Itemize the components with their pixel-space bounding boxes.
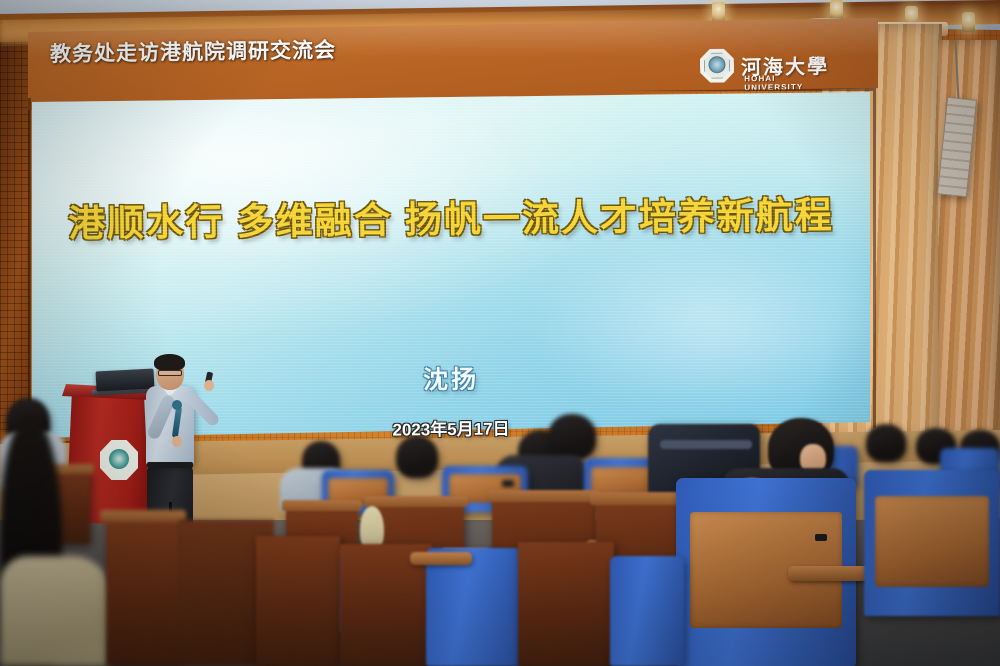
audience-desk [518,542,614,666]
ceiling-spotlight-icon [830,0,843,20]
audience-desk-foreground [106,518,182,666]
backpack-strap [660,440,752,449]
audience-desk-top [488,490,600,502]
university-logo: 河海大學 HOHAI UNIVERSITY [700,47,829,83]
university-name-en: HOHAI UNIVERSITY [744,73,829,92]
seat-armrest [788,566,874,581]
audience-head [866,424,906,462]
audience-desk-top [364,496,468,507]
hohai-octagon-emblem-icon [700,48,735,83]
ceiling-spotlight-icon [712,2,725,22]
seat-armrest [410,552,472,565]
ceiling-spotlight-icon [962,12,975,32]
audience-head [396,436,438,478]
audience-desk [256,536,340,666]
auditorium-seat [864,470,1000,616]
audience-desk-top [282,500,362,511]
auditorium-seat [610,556,684,666]
auditorium-seat [426,548,522,666]
slide-title: 港顺水行 多维融合 扬帆一流人才培养新航程 [32,184,870,248]
lecture-hall-photo: 教务处走访港航院调研交流会 河海大學 HOHAI UNIVERSITY 港顺水行… [0,0,1000,666]
glasses-icon [158,370,182,376]
audience-desk-top [100,510,186,522]
audience-body-foreground [0,556,112,666]
